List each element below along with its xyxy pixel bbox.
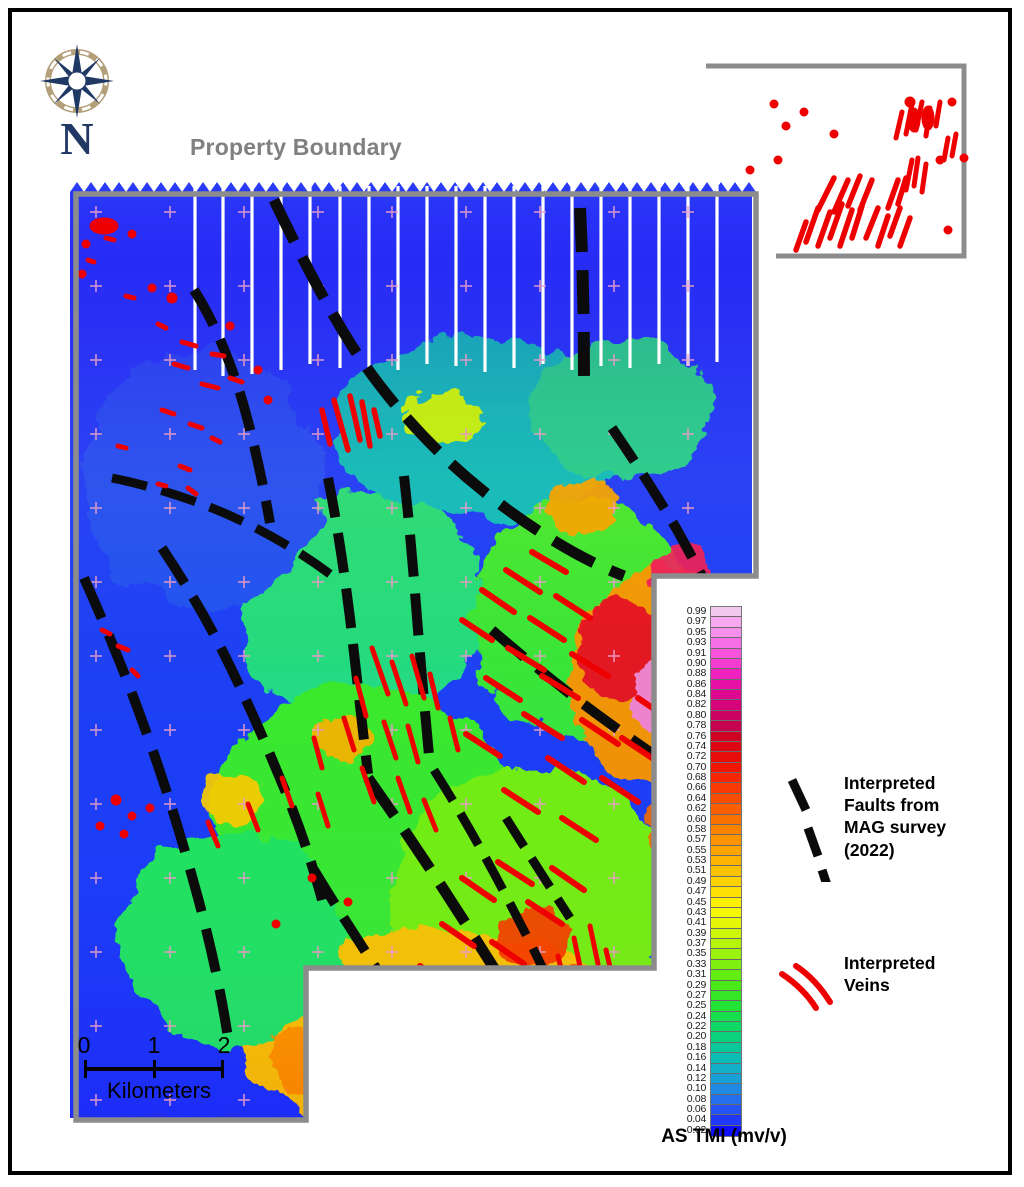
legend-veins-label: Interpreted Veins: [844, 952, 935, 996]
colorbar-swatch: [711, 690, 741, 700]
colorbar-swatch: [711, 607, 741, 617]
colorbar-tick: 0.16: [687, 1052, 706, 1062]
interpreted-veins-inset: [746, 97, 968, 250]
colorbar-swatch: [711, 887, 741, 897]
compass-north-label: N: [60, 113, 93, 160]
colorbar-swatch: [711, 732, 741, 742]
colorbar-swatch: [711, 1064, 741, 1074]
colorbar-swatch: [711, 763, 741, 773]
colorbar-swatch: [711, 981, 741, 991]
colorbar-tick: 0.31: [687, 969, 706, 979]
colorbar-swatch: [711, 680, 741, 690]
colorbar-swatch: [711, 669, 741, 679]
colorbar-swatch: [711, 918, 741, 928]
colorbar-swatch: [711, 1032, 741, 1042]
colorbar-swatch: [711, 1012, 741, 1022]
colorbar-swatch: [711, 908, 741, 918]
scale-bar-ticks: 0 1 2: [84, 1032, 244, 1060]
colorbar-swatch: [711, 991, 741, 1001]
scale-bar: 0 1 2 Kilometers: [84, 1032, 244, 1104]
colorbar-swatch: [711, 711, 741, 721]
colorbar-swatch: [711, 1001, 741, 1011]
colorbar-swatch: [711, 804, 741, 814]
compass-rose: N: [38, 42, 116, 160]
colorbar-swatch: [711, 877, 741, 887]
colorbar-swatch: [711, 794, 741, 804]
colorbar-title: AS TMI (mv/v): [604, 1126, 844, 1148]
colorbar-swatch: [711, 1043, 741, 1053]
colorbar-tick-labels: 0.990.970.950.930.910.900.880.860.840.82…: [664, 606, 706, 1137]
colorbar-swatch: [711, 815, 741, 825]
colorbar-swatch: [711, 939, 741, 949]
dashed-line-icon: [778, 772, 838, 882]
colorbar-swatch: [711, 1053, 741, 1063]
colorbar-swatch: [711, 1022, 741, 1032]
colorbar-swatch: [711, 773, 741, 783]
colorbar: 0.990.970.950.930.910.900.880.860.840.82…: [664, 606, 740, 1114]
colorbar-swatch: [711, 752, 741, 762]
colorbar-swatch: [711, 856, 741, 866]
colorbar-swatch: [711, 949, 741, 959]
colorbar-swatch: [711, 783, 741, 793]
colorbar-swatch: [711, 846, 741, 856]
colorbar-swatch: [711, 825, 741, 835]
colorbar-swatch: [711, 1095, 741, 1105]
property-boundary-label: Property Boundary: [190, 134, 402, 161]
legend-item-faults: Interpreted Faults from MAG survey (2022…: [778, 772, 978, 884]
colorbar-swatch: [711, 742, 741, 752]
colorbar-swatch: [711, 1105, 741, 1115]
colorbar-swatch: [711, 638, 741, 648]
colorbar-swatches: [710, 606, 742, 1137]
colorbar-tick: 0.93: [687, 637, 706, 647]
colorbar-tick: 0.62: [687, 803, 706, 813]
colorbar-swatch: [711, 649, 741, 659]
compass-center-icon: [69, 73, 86, 90]
colorbar-swatch: [711, 866, 741, 876]
colorbar-swatch: [711, 1074, 741, 1084]
colorbar-swatch: [711, 700, 741, 710]
colorbar-swatch: [711, 970, 741, 980]
colorbar-tick: 0.47: [687, 886, 706, 896]
colorbar-swatch: [711, 960, 741, 970]
colorbar-swatch: [711, 898, 741, 908]
colorbar-swatch: [711, 1115, 741, 1125]
colorbar-swatch: [711, 835, 741, 845]
vein-lines-icon: [778, 952, 838, 1022]
map-legend: Interpreted Faults from MAG survey (2022…: [778, 772, 978, 1032]
scale-bar-caption: Kilometers: [84, 1078, 234, 1104]
colorbar-swatch: [711, 659, 741, 669]
scale-bar-line: [84, 1060, 244, 1076]
colorbar-swatch: [711, 1084, 741, 1094]
colorbar-swatch: [711, 617, 741, 627]
legend-item-veins: Interpreted Veins: [778, 952, 978, 1022]
map-figure: N Property Boundary: [0, 0, 1024, 1187]
colorbar-tick: 0.78: [687, 720, 706, 730]
colorbar-swatch: [711, 929, 741, 939]
colorbar-swatch: [711, 721, 741, 731]
northeast-boundary-extension: [700, 60, 980, 280]
legend-faults-label: Interpreted Faults from MAG survey (2022…: [844, 772, 946, 861]
colorbar-swatch: [711, 628, 741, 638]
